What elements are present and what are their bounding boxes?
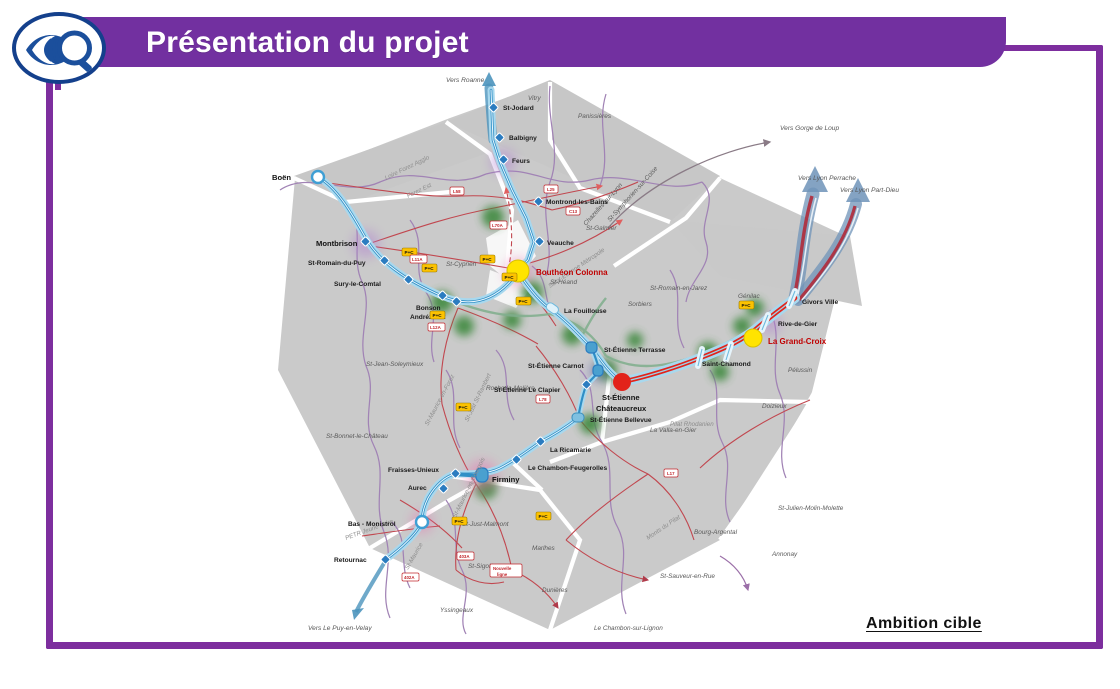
svg-text:Aurec: Aurec [408,485,427,492]
svg-text:403A: 403A [459,554,470,559]
frame-border-bottom [46,642,1103,649]
svg-text:Annonay: Annonay [771,551,798,558]
svg-text:Le Chambon-sur-Lignon: Le Chambon-sur-Lignon [594,625,663,632]
svg-text:P+C: P+C [742,303,752,308]
network-map: Vers Roanne Vers Gorge de Loup Vers Lyon… [250,70,970,635]
svg-text:St-Julien-Molin-Molette: St-Julien-Molin-Molette [778,505,844,512]
svg-text:Fraisses-Unieux: Fraisses-Unieux [388,467,439,474]
svg-text:St-Just-Malmont: St-Just-Malmont [462,521,509,528]
svg-text:St-Romain-en-Jarez: St-Romain-en-Jarez [650,285,708,292]
svg-text:Yssingeaux: Yssingeaux [440,607,474,614]
frame-border-right [1096,45,1103,649]
svg-text:Feurs: Feurs [512,158,530,165]
logo-badge [12,12,106,84]
svg-text:Balbigny: Balbigny [509,135,537,142]
svg-text:P+C: P+C [455,519,465,524]
svg-text:P+C: P+C [483,257,493,262]
svg-text:L78: L78 [539,397,547,402]
svg-text:St-Jean-Soleymieux: St-Jean-Soleymieux [366,361,424,368]
svg-text:Bas - Monistrol: Bas - Monistrol [348,521,396,528]
svg-text:P+C: P+C [505,275,515,280]
svg-text:P+C: P+C [459,405,469,410]
svg-text:La Valla-en-Gier: La Valla-en-Gier [650,427,697,434]
svg-text:L17: L17 [667,471,675,476]
svg-text:St-Héand: St-Héand [550,279,577,286]
svg-text:Rive-de-Gier: Rive-de-Gier [778,321,818,328]
region-polygons [278,80,862,630]
svg-text:Vers Gorge de Loup: Vers Gorge de Loup [780,125,839,132]
svg-text:Génilac: Génilac [738,293,760,300]
svg-text:P+C: P+C [425,266,435,271]
svg-text:Pélussin: Pélussin [788,367,813,374]
svg-text:Doizieux: Doizieux [762,403,787,410]
svg-text:St-Étienne Carnot: St-Étienne Carnot [528,361,584,370]
svg-text:La Fouillouse: La Fouillouse [564,308,607,315]
svg-text:St-Galmier: St-Galmier [586,225,617,232]
svg-text:L58: L58 [453,189,461,194]
svg-text:P+C: P+C [433,313,443,318]
svg-text:Vers Roanne: Vers Roanne [446,77,485,84]
svg-text:Châteaucreux: Châteaucreux [596,404,647,413]
svg-text:L25: L25 [547,187,555,192]
frame-border-left [46,45,53,649]
frame-border-top [1000,45,1103,51]
svg-text:St-Jodard: St-Jodard [503,105,534,112]
svg-text:Vers Le Puy-en-Velay: Vers Le Puy-en-Velay [308,625,372,632]
svg-text:Boën: Boën [272,173,291,182]
svg-text:Retournac: Retournac [334,557,367,564]
svg-text:St-Sauveur-en-Rue: St-Sauveur-en-Rue [660,573,715,580]
svg-text:St-Étienne Le Clapier: St-Étienne Le Clapier [494,385,561,394]
svg-text:402A: 402A [404,575,415,580]
svg-text:Sorbiers: Sorbiers [628,301,653,308]
svg-text:St-Cyprien: St-Cyprien [446,261,477,268]
svg-text:Bourg-Argental: Bourg-Argental [694,529,738,536]
svg-text:C13: C13 [569,209,578,214]
svg-text:L70A: L70A [492,223,504,228]
svg-text:St-Étienne Terrasse: St-Étienne Terrasse [604,345,666,354]
svg-text:P+C: P+C [519,299,529,304]
svg-text:La Grand-Croix: La Grand-Croix [768,337,827,346]
svg-text:Givors Ville: Givors Ville [802,299,838,306]
svg-text:Vitry: Vitry [528,95,541,102]
svg-text:St-Étienne: St-Étienne [602,393,640,402]
svg-text:ligne: ligne [497,572,508,577]
svg-text:Veauche: Veauche [547,240,574,247]
svg-text:Montrond-les-Bains: Montrond-les-Bains [546,199,608,206]
svg-text:St-Étienne Bellevue: St-Étienne Bellevue [590,415,652,424]
svg-text:Dunières: Dunières [542,587,568,594]
svg-text:Nouvelle: Nouvelle [493,566,512,571]
svg-text:Vers Lyon Perrache: Vers Lyon Perrache [798,175,856,182]
svg-text:Panissières: Panissières [578,113,612,120]
svg-text:Vers Lyon Part-Dieu: Vers Lyon Part-Dieu [840,187,899,194]
svg-text:St-Romain-du-Puy: St-Romain-du-Puy [308,260,366,267]
svg-text:Sury-le-Comtal: Sury-le-Comtal [334,281,381,288]
page-title: Présentation du projet [146,26,966,60]
svg-text:P+C: P+C [405,250,415,255]
slide-root: Présentation du projet [0,0,1120,689]
svg-text:P+C: P+C [539,514,549,519]
eye-magnifier-icon [24,24,102,76]
svg-text:Saint-Chamond: Saint-Chamond [702,361,751,368]
svg-text:St-Bonnet-le-Château: St-Bonnet-le-Château [326,433,388,440]
svg-text:Bouthéon Colonna: Bouthéon Colonna [536,268,608,277]
svg-text:Le Chambon-Feugerolles: Le Chambon-Feugerolles [528,465,607,472]
svg-text:Montbrison: Montbrison [316,239,358,248]
svg-text:Firminy: Firminy [492,475,520,484]
svg-text:Marlhes: Marlhes [532,545,556,552]
ambition-cible-label: Ambition cible [866,615,982,633]
svg-text:L12A: L12A [430,325,442,330]
svg-text:L11A: L11A [412,257,423,262]
svg-text:La Ricamarie: La Ricamarie [550,447,591,454]
